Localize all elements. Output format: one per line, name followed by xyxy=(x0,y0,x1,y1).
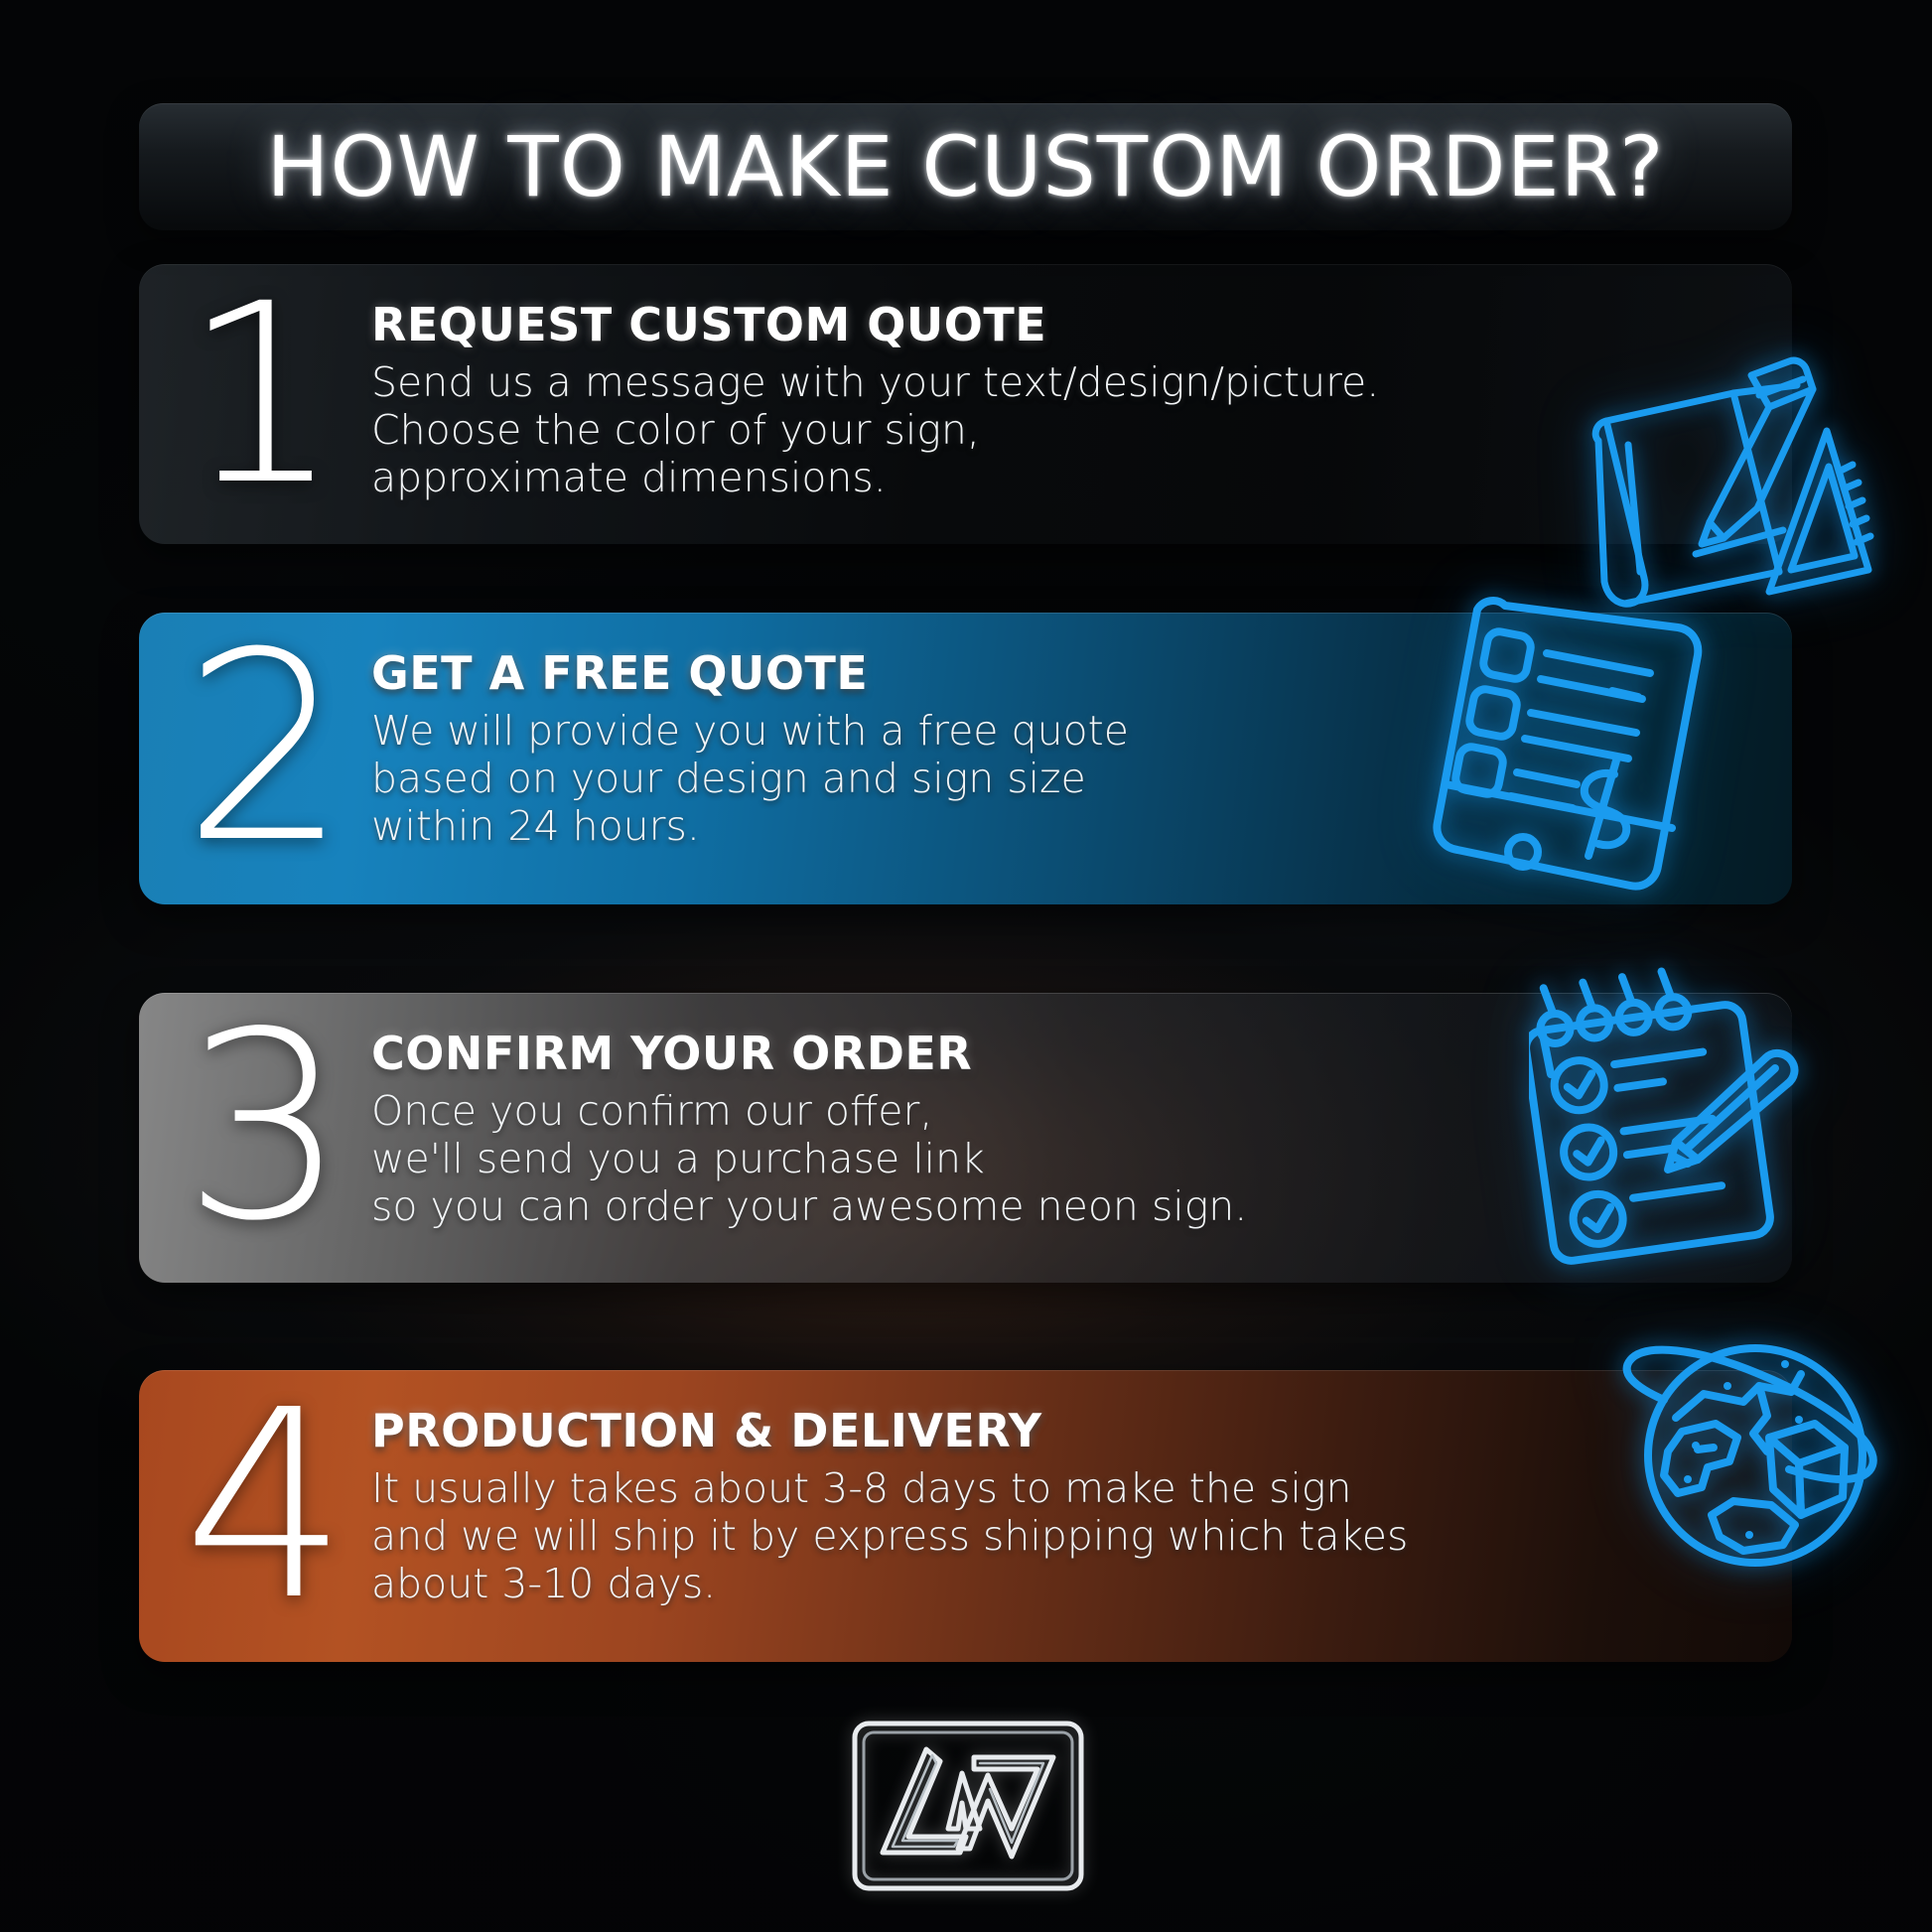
step-card-2[interactable]: 2 GET A FREE QUOTE We will provide you w… xyxy=(139,613,1792,904)
step-1-content: 1 REQUEST CUSTOM QUOTE Send us a message… xyxy=(139,264,1792,544)
step-4-number: 4 xyxy=(183,1392,371,1621)
page-title: HOW TO MAKE CUSTOM ORDER? xyxy=(266,118,1664,215)
step-2-number: 2 xyxy=(183,634,371,864)
step-4-body: PRODUCTION & DELIVERY It usually takes a… xyxy=(371,1392,1752,1608)
step-card-4[interactable]: 4 PRODUCTION & DELIVERY It usually takes… xyxy=(139,1370,1792,1662)
step-1-number: 1 xyxy=(183,286,371,504)
step-2-content: 2 GET A FREE QUOTE We will provide you w… xyxy=(139,613,1792,904)
page-title-panel: HOW TO MAKE CUSTOM ORDER? xyxy=(139,103,1792,230)
infographic-frame: HOW TO MAKE CUSTOM ORDER? 1 REQUEST CUST… xyxy=(0,0,1932,1932)
step-card-1[interactable]: 1 REQUEST CUSTOM QUOTE Send us a message… xyxy=(139,264,1792,544)
step-2-body: GET A FREE QUOTE We will provide you wit… xyxy=(371,634,1752,851)
step-3-body: CONFIRM YOUR ORDER Once you confirm our … xyxy=(371,1015,1752,1231)
step-3-number: 3 xyxy=(183,1015,371,1242)
step-card-3[interactable]: 3 CONFIRM YOUR ORDER Once you confirm ou… xyxy=(139,993,1792,1283)
step-1-heading: REQUEST CUSTOM QUOTE xyxy=(371,298,1752,351)
step-3-content: 3 CONFIRM YOUR ORDER Once you confirm ou… xyxy=(139,993,1792,1283)
step-2-heading: GET A FREE QUOTE xyxy=(371,646,1752,700)
neon-w-monogram-logo xyxy=(849,1718,1087,1894)
step-1-body: REQUEST CUSTOM QUOTE Send us a message w… xyxy=(371,286,1752,502)
step-2-description: We will provide you with a free quote ba… xyxy=(371,708,1752,851)
step-4-content: 4 PRODUCTION & DELIVERY It usually takes… xyxy=(139,1370,1792,1662)
step-4-description: It usually takes about 3-8 days to make … xyxy=(371,1465,1752,1608)
step-1-description: Send us a message with your text/design/… xyxy=(371,359,1752,502)
step-4-heading: PRODUCTION & DELIVERY xyxy=(371,1404,1752,1457)
step-3-heading: CONFIRM YOUR ORDER xyxy=(371,1027,1752,1080)
step-3-description: Once you confirm our offer, we'll send y… xyxy=(371,1088,1752,1231)
